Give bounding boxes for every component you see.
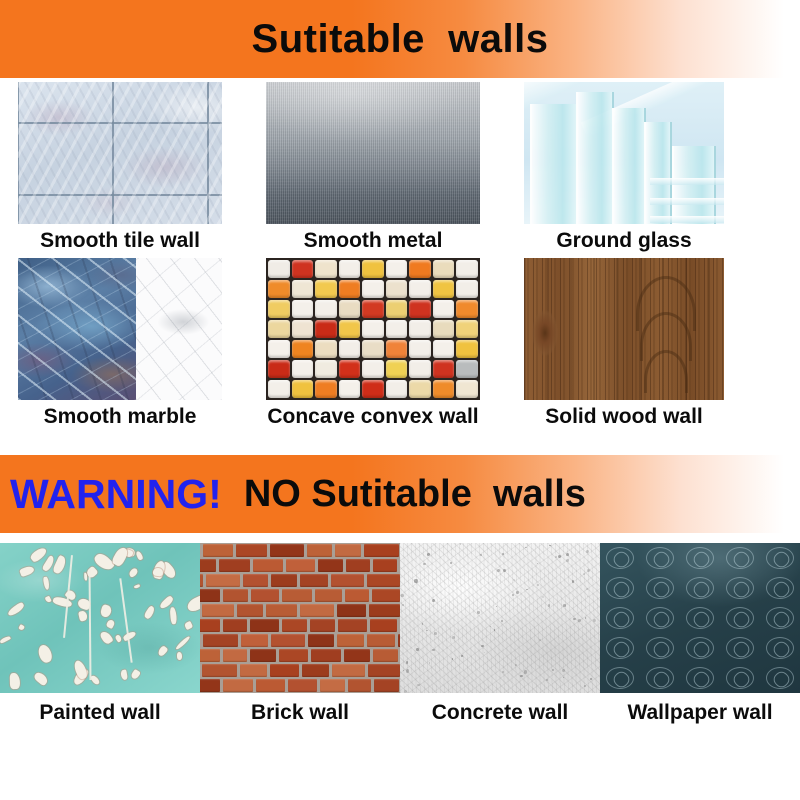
wallpaper-medallion [726, 667, 754, 689]
brick [315, 589, 342, 602]
concrete-speck [563, 677, 564, 678]
mosaic-tile [339, 340, 361, 358]
concrete-speck [593, 619, 596, 622]
mosaic-tile [362, 380, 384, 398]
concrete-speck [520, 675, 523, 678]
wallpaper-medallion [646, 547, 674, 569]
mosaic-tile [386, 360, 408, 378]
concrete-speck [401, 594, 404, 597]
brick [203, 544, 233, 557]
concrete-speck [433, 589, 434, 590]
mosaic-tile [409, 360, 431, 378]
brick [307, 544, 332, 557]
brick [203, 634, 238, 647]
paint-flake [120, 669, 128, 680]
paint-flake [105, 618, 115, 629]
paint-flake [157, 645, 169, 657]
concrete-speck [432, 649, 434, 651]
wall-card-concrete-wall[interactable]: Concrete wall [400, 543, 600, 733]
paint-flake [18, 624, 25, 631]
brick [300, 574, 328, 587]
wallpaper-medallion [726, 637, 754, 659]
mosaic-tile [433, 300, 455, 318]
wallpaper-medallion [606, 577, 634, 599]
mosaic-tile [339, 280, 361, 298]
concrete-speck [404, 690, 407, 693]
wallpaper-medallion [726, 547, 754, 569]
concrete-speck [590, 678, 592, 680]
brick [241, 634, 269, 647]
concrete-speck [542, 596, 544, 598]
mosaic-tile [315, 280, 337, 298]
paint-flake [52, 555, 68, 576]
concrete-speck [452, 658, 454, 660]
brick-course [200, 619, 400, 632]
paint-flake [143, 605, 156, 620]
mosaic-tile [433, 360, 455, 378]
brick [373, 559, 397, 572]
wallpaper-medallion [646, 637, 674, 659]
concrete-speck [584, 685, 586, 687]
wallpaper-medallion [606, 547, 634, 569]
concrete-speck [587, 596, 588, 597]
mosaic-tile [339, 300, 361, 318]
concrete-speck [562, 669, 565, 672]
brick [302, 664, 329, 677]
ground-glass-image [524, 82, 724, 224]
brick [345, 589, 370, 602]
concrete-speck [403, 670, 405, 672]
mosaic-tile [315, 260, 337, 278]
mosaic-tile [339, 380, 361, 398]
mosaic-tile [409, 300, 431, 318]
brick [206, 574, 239, 587]
mosaic-tile [292, 300, 314, 318]
concrete-speck [566, 559, 569, 562]
brick [282, 619, 307, 632]
mosaic-tile [268, 280, 290, 298]
wall-card-smooth-tile-wall[interactable]: Smooth tile wall [18, 82, 222, 258]
brick [270, 544, 303, 557]
wallpaper-medallion [686, 667, 714, 689]
mosaic-tile [362, 340, 384, 358]
concrete-speck [502, 553, 504, 555]
mosaic-tile [433, 340, 455, 358]
mosaic-tile [315, 340, 337, 358]
concrete-speck [546, 679, 548, 681]
brick [367, 634, 396, 647]
mosaic-tile [292, 380, 314, 398]
wallpaper-medallion [606, 607, 634, 629]
brick-course [200, 589, 400, 602]
suitable-row-2: Smooth marble Concave convex wall Solid … [0, 258, 800, 434]
brick [237, 604, 263, 617]
brick [338, 619, 368, 632]
concrete-speck [515, 664, 517, 666]
mosaic-tile [456, 320, 478, 338]
concrete-speck [481, 645, 483, 647]
brick [240, 664, 267, 677]
brick [370, 619, 397, 632]
brick-course [200, 559, 400, 572]
wallpaper-medallion [606, 667, 634, 689]
wall-card-solid-wood-wall[interactable]: Solid wood wall [524, 258, 724, 434]
wallpaper-medallion [766, 637, 794, 659]
mosaic-tile [386, 320, 408, 338]
concrete-speck [539, 639, 541, 641]
brick [279, 649, 308, 662]
concrete-speck [552, 669, 554, 671]
concrete-speck [516, 591, 519, 594]
concrete-speck [537, 563, 538, 564]
concrete-speck [480, 554, 482, 556]
paint-flake [43, 577, 50, 591]
mosaic-tile [362, 360, 384, 378]
wall-card-label: Brick wall [200, 693, 400, 733]
concrete-speck [525, 547, 527, 549]
mosaic-tile [362, 260, 384, 278]
concrete-speck [524, 670, 527, 673]
concrete-speck [585, 617, 587, 619]
brick [346, 559, 370, 572]
suitable-walls-grid: Smooth tile wall Smooth metal Ground gla… [0, 78, 800, 455]
concrete-speck [502, 671, 504, 673]
wall-card-wallpaper-wall[interactable]: Wallpaper wall [600, 543, 800, 733]
concrete-speck [586, 550, 589, 553]
brick-course [200, 544, 400, 557]
paint-flake [184, 621, 193, 630]
mosaic-tile [268, 320, 290, 338]
mosaic-tile [386, 380, 408, 398]
paint-flake [10, 673, 20, 689]
brick [223, 619, 247, 632]
brick [311, 649, 341, 662]
brick [219, 559, 251, 572]
mosaic-tile [268, 260, 290, 278]
brick [271, 574, 297, 587]
brick [364, 544, 399, 557]
wallpaper-medallion [606, 637, 634, 659]
paint-flake [29, 545, 48, 562]
mosaic-tile [456, 280, 478, 298]
wall-card-label: Concave convex wall [266, 400, 480, 434]
mosaic-tile [292, 280, 314, 298]
wallpaper-medallion [646, 577, 674, 599]
smooth-metal-image [266, 82, 480, 224]
mosaic-tile [433, 320, 455, 338]
concrete-speck [537, 584, 539, 586]
concrete-speck [477, 611, 479, 613]
brick [344, 649, 370, 662]
mosaic-tile [315, 320, 337, 338]
paint-flake [177, 652, 182, 660]
paint-flake [37, 643, 54, 664]
concrete-speck [578, 619, 581, 622]
mosaic-tile [386, 340, 408, 358]
wall-card-concave-convex-wall[interactable]: Concave convex wall [266, 258, 480, 434]
mosaic-tile [362, 280, 384, 298]
paint-flake [130, 669, 141, 680]
brick [348, 679, 371, 692]
concrete-speck [587, 569, 590, 572]
warning-label: WARNING! [10, 471, 222, 518]
brick [200, 589, 220, 602]
mosaic-tile [362, 300, 384, 318]
wall-card-painted-wall[interactable]: Painted wall [0, 543, 200, 733]
mosaic-tile [456, 300, 478, 318]
mosaic-tile [456, 260, 478, 278]
concrete-speck [566, 553, 569, 556]
brick [318, 559, 343, 572]
brick [373, 649, 398, 662]
concrete-speck [555, 556, 557, 558]
concrete-speck [513, 579, 516, 582]
paint-flake [84, 572, 88, 580]
concrete-speck [426, 630, 428, 632]
concrete-speck [563, 604, 566, 607]
brick [243, 574, 268, 587]
brick [282, 589, 311, 602]
brick [310, 619, 334, 632]
brick [286, 559, 315, 572]
concrete-speck [452, 636, 455, 639]
wall-card-label: Smooth marble [18, 400, 222, 434]
concrete-speck [526, 589, 527, 590]
paint-flake [99, 604, 112, 619]
brick-course [200, 574, 400, 587]
concrete-speck [416, 648, 418, 650]
concrete-speck [549, 545, 551, 547]
wallpaper-medallion [686, 637, 714, 659]
paint-flake [78, 611, 88, 622]
concrete-speck [406, 669, 409, 672]
mosaic-tile [292, 320, 314, 338]
concrete-speck [548, 604, 551, 607]
wallpaper-medallion [726, 577, 754, 599]
wall-card-smooth-marble[interactable]: Smooth marble [18, 258, 222, 434]
wall-card-smooth-metal[interactable]: Smooth metal [266, 82, 480, 258]
brick [331, 574, 364, 587]
wall-card-brick-wall[interactable]: Brick wall [200, 543, 400, 733]
concrete-speck [503, 569, 506, 572]
paint-flake [153, 567, 164, 576]
concrete-speck [583, 573, 585, 575]
mosaic-tile [386, 300, 408, 318]
paint-flake [133, 584, 140, 589]
paint-flake [19, 564, 35, 576]
concrete-speck [497, 569, 500, 572]
mosaic-tile [409, 380, 431, 398]
concrete-speck [461, 655, 463, 657]
wallpaper-medallion [766, 607, 794, 629]
concrete-speck [572, 580, 575, 583]
paint-flake [175, 635, 190, 650]
paint-flake [186, 594, 200, 613]
paint-flake [32, 671, 49, 687]
wall-card-label: Solid wood wall [524, 400, 724, 434]
paint-crack [89, 569, 92, 680]
mosaic-tile [386, 260, 408, 278]
wallpaper-medallion [686, 547, 714, 569]
mosaic-tile [268, 380, 290, 398]
brick [200, 574, 203, 587]
wallpaper-medallion [766, 577, 794, 599]
brick [200, 649, 220, 662]
paint-flake [0, 635, 11, 644]
wallpaper-medallion [766, 547, 794, 569]
mosaic-tile [339, 320, 361, 338]
mosaic-tile [456, 340, 478, 358]
concrete-speck [429, 662, 430, 663]
brick-course [200, 664, 400, 677]
concrete-speck [427, 553, 430, 556]
mosaic-tile [456, 380, 478, 398]
brick [271, 634, 305, 647]
brick [335, 544, 362, 557]
mosaic-tile [315, 380, 337, 398]
paint-flake [99, 630, 113, 646]
brick [236, 544, 267, 557]
concrete-speck [490, 626, 491, 627]
mosaic-tile [409, 340, 431, 358]
wallpaper-wall-image [600, 543, 800, 693]
wallpaper-medallion [686, 577, 714, 599]
concrete-speck [484, 652, 485, 653]
brick [367, 574, 400, 587]
mosaic-tile [456, 360, 478, 378]
paint-flake [114, 634, 122, 643]
wallpaper-medallion [726, 607, 754, 629]
brick [223, 679, 253, 692]
smooth-tile-wall-image [18, 82, 222, 224]
concrete-wall-image [400, 543, 600, 693]
brick [320, 679, 345, 692]
mosaic-tile [268, 360, 290, 378]
brick [369, 604, 400, 617]
wallpaper-medallion [646, 667, 674, 689]
mosaic-tile [386, 280, 408, 298]
paint-crack [120, 578, 133, 663]
concrete-speck [558, 555, 561, 558]
wallpaper-medallion [686, 607, 714, 629]
mosaic-tile [339, 260, 361, 278]
concave-convex-wall-image [266, 258, 480, 400]
brick [200, 559, 216, 572]
brick [256, 679, 284, 692]
brick [337, 634, 364, 647]
mosaic-tile [292, 260, 314, 278]
wallpaper-medallion [766, 667, 794, 689]
brick-course [200, 634, 400, 647]
mosaic-tile [292, 360, 314, 378]
paint-flake [85, 566, 98, 579]
brick [251, 589, 279, 602]
suitable-banner: Sutitable walls [0, 0, 800, 78]
brick [200, 679, 220, 692]
mosaic-tile [433, 260, 455, 278]
concrete-speck [450, 562, 452, 564]
mosaic-tile [409, 320, 431, 338]
brick [250, 649, 276, 662]
unsuitable-walls-grid: Painted wall Brick wall Concrete wall Wa… [0, 543, 800, 733]
brick [250, 619, 279, 632]
paint-flake [128, 567, 140, 578]
brick [332, 664, 365, 677]
suitable-banner-title: Sutitable walls [252, 17, 549, 62]
brick [223, 649, 247, 662]
brick-wall-image [200, 543, 400, 693]
brick-course [200, 649, 400, 662]
brick [308, 634, 334, 647]
concrete-speck [496, 606, 497, 607]
brick [266, 604, 296, 617]
concrete-speck [406, 661, 409, 664]
suitable-row-1: Smooth tile wall Smooth metal Ground gla… [0, 82, 800, 258]
concrete-speck [460, 543, 461, 544]
warning-banner: WARNING! NO Sutitable walls [0, 455, 800, 533]
brick [223, 589, 248, 602]
concrete-speck [417, 684, 420, 687]
mosaic-tile [409, 260, 431, 278]
brick [300, 604, 334, 617]
wallpaper-medallion [646, 607, 674, 629]
concrete-speck [586, 588, 588, 590]
paint-flake [44, 596, 51, 604]
smooth-marble-image [18, 258, 222, 400]
wall-card-label: Wallpaper wall [600, 693, 800, 733]
wall-card-label: Smooth tile wall [18, 224, 222, 258]
mosaic-tile [433, 280, 455, 298]
concrete-speck [432, 599, 435, 602]
brick [372, 589, 400, 602]
solid-wood-wall-image [524, 258, 724, 400]
mosaic-tile [268, 340, 290, 358]
concrete-speck [512, 594, 514, 596]
concrete-speck [434, 632, 437, 635]
concrete-speck [573, 618, 576, 621]
concrete-speck [501, 620, 503, 622]
mosaic-tile [409, 280, 431, 298]
paint-flake [170, 607, 177, 625]
brick [337, 604, 367, 617]
mosaic-tile [268, 300, 290, 318]
concrete-speck [422, 623, 423, 624]
wall-card-ground-glass[interactable]: Ground glass [524, 82, 724, 258]
mosaic-tile [315, 300, 337, 318]
wall-card-label: Smooth metal [266, 224, 480, 258]
brick [253, 559, 283, 572]
mosaic-tile [362, 320, 384, 338]
wall-card-label: Ground glass [524, 224, 724, 258]
wall-card-label: Concrete wall [400, 693, 600, 733]
concrete-speck [423, 563, 425, 565]
mosaic-tile [339, 360, 361, 378]
brick [200, 619, 220, 632]
brick-course [200, 604, 400, 617]
mosaic-tile [315, 360, 337, 378]
brick [270, 664, 299, 677]
mosaic-tile [433, 380, 455, 398]
wall-card-label: Painted wall [0, 693, 200, 733]
painted-wall-image [0, 543, 200, 693]
brick [202, 664, 237, 677]
brick [202, 604, 235, 617]
unsuitable-banner-title: NO Sutitable walls [244, 473, 586, 516]
paint-flake [135, 551, 143, 561]
brick-course [200, 679, 400, 692]
mosaic-tile [292, 340, 314, 358]
concrete-speck [402, 604, 404, 606]
